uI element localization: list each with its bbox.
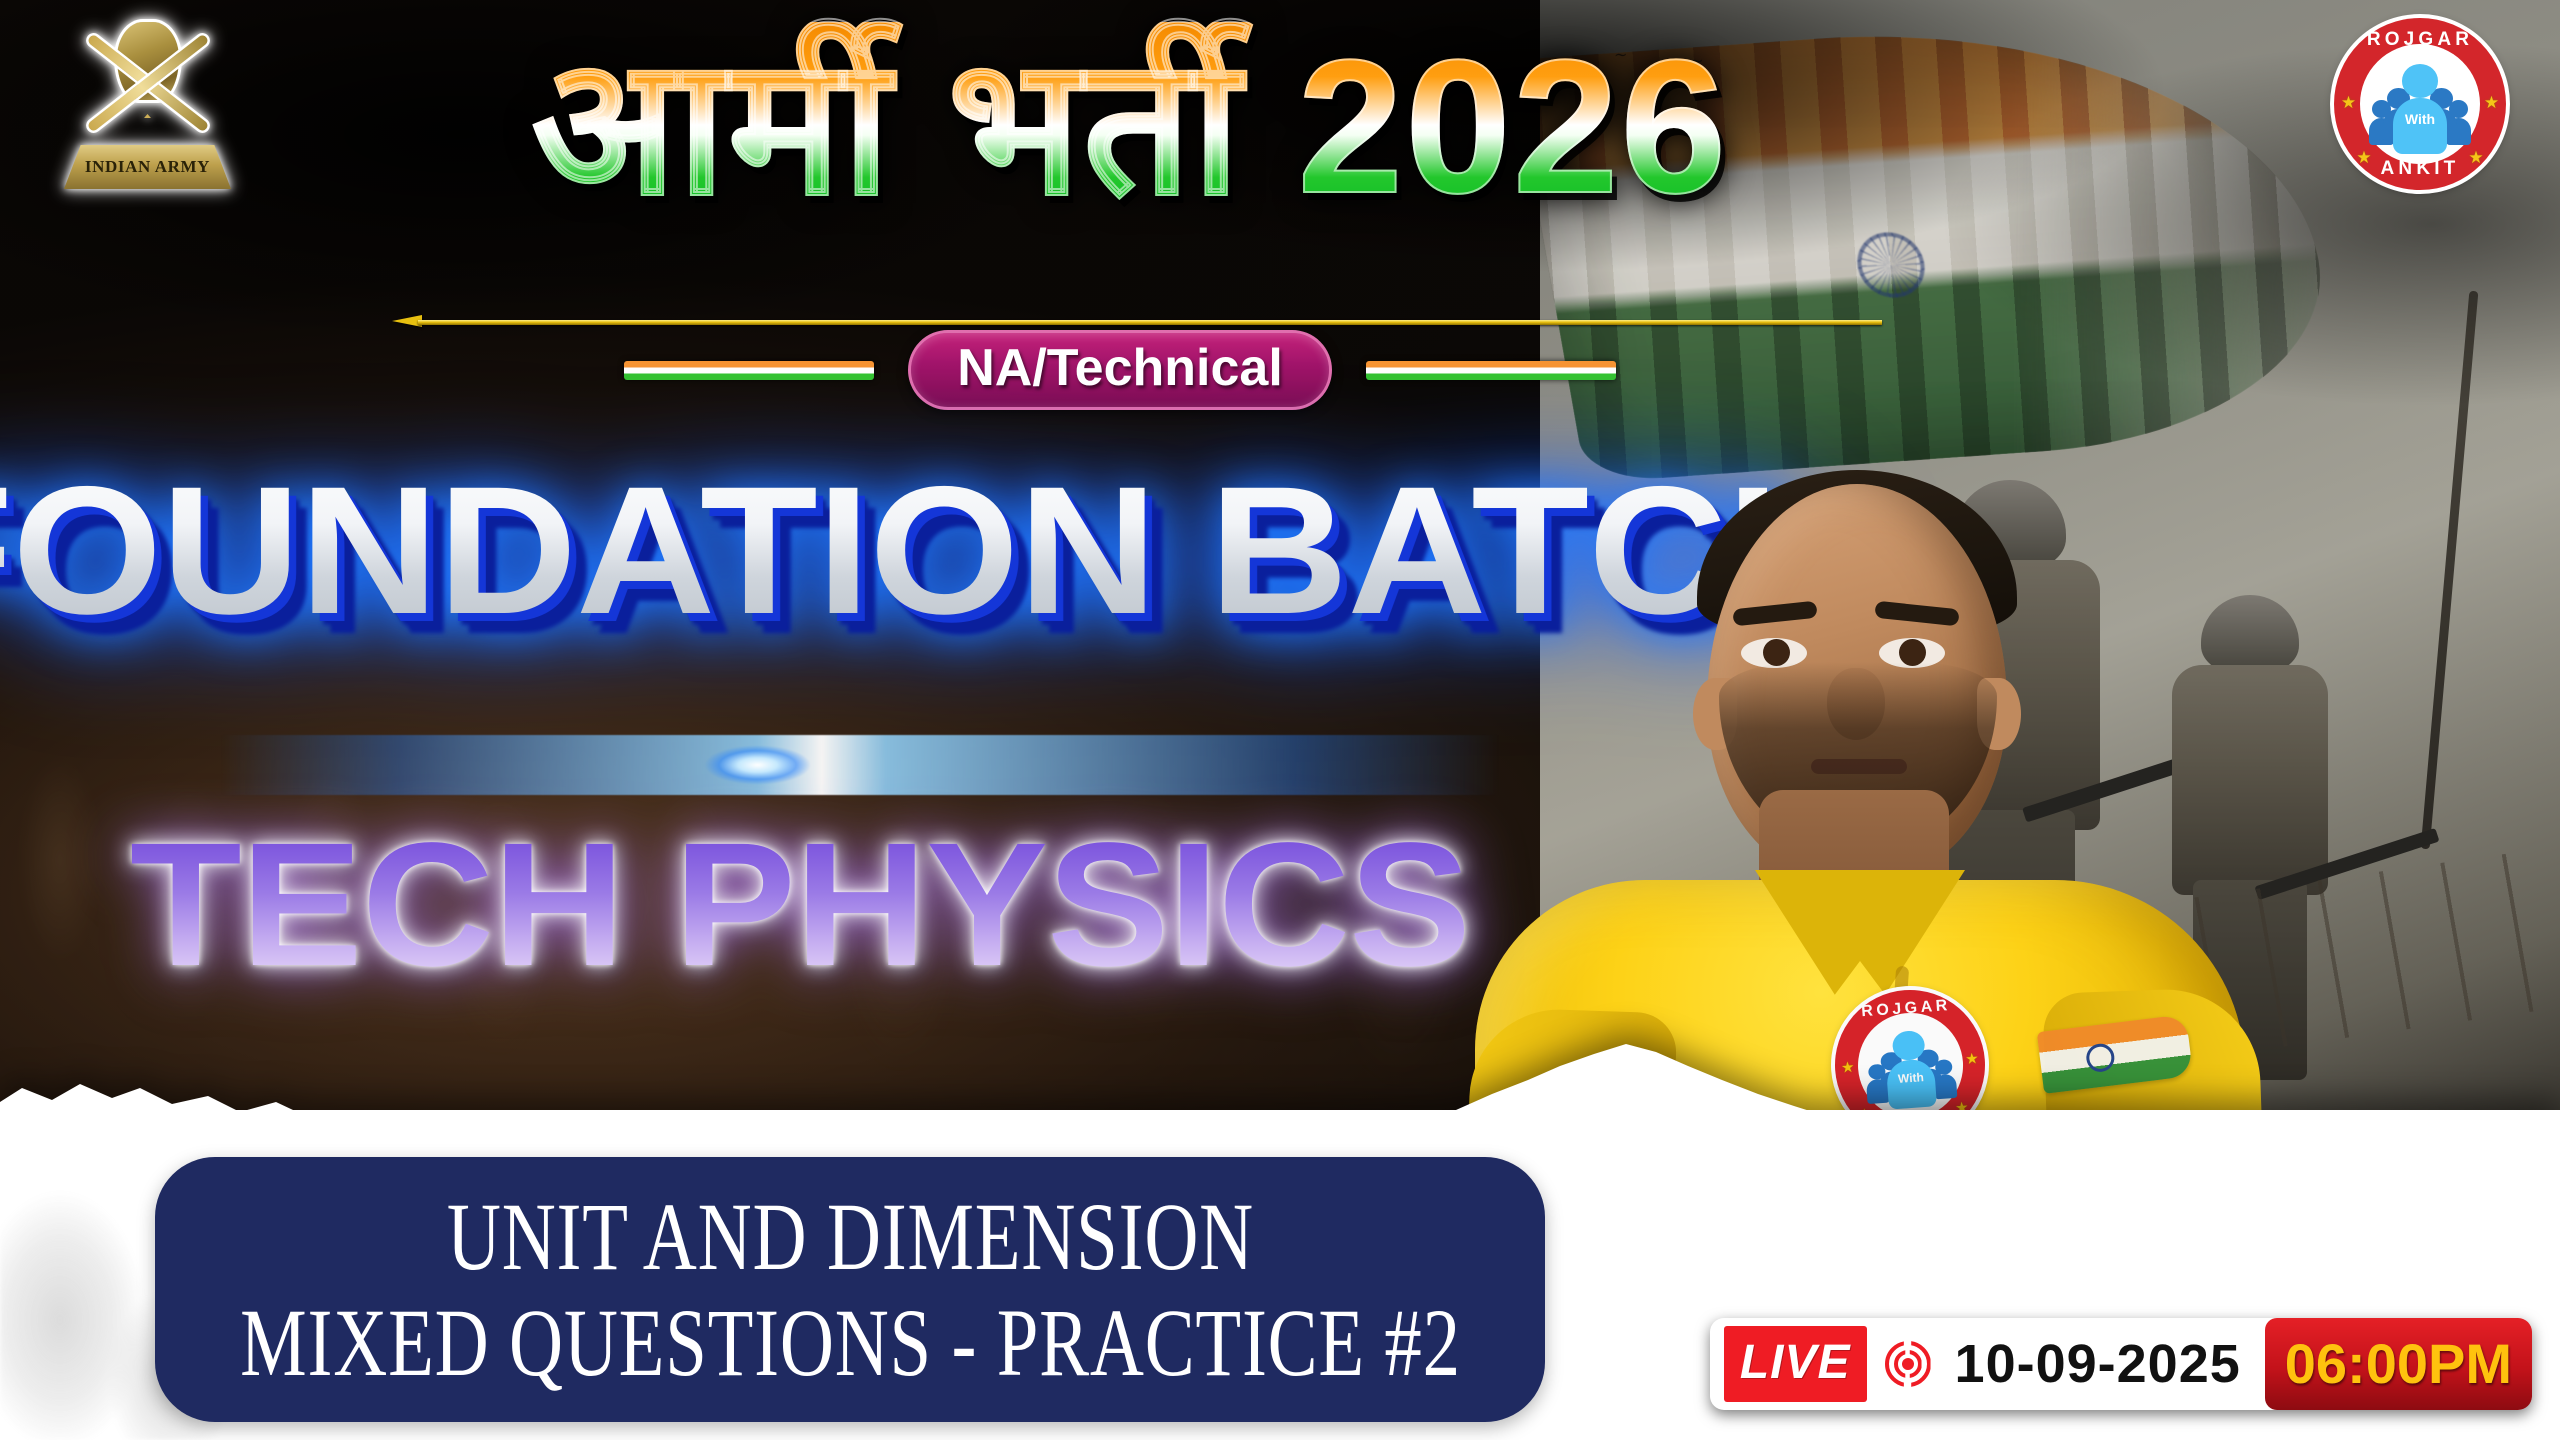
live-time: 06:00PM	[2265, 1318, 2532, 1410]
indian-army-label: INDIAN ARMY	[85, 157, 210, 177]
tricolor-bar-left	[624, 361, 874, 380]
live-badge: LIVE	[1724, 1326, 1867, 1402]
people-group-icon	[2372, 64, 2468, 153]
star-icon: ★	[2484, 94, 2499, 111]
emblem-plate: INDIAN ARMY	[60, 18, 235, 193]
indian-army-emblem: INDIAN ARMY	[60, 18, 235, 193]
topic-line-1: UNIT AND DIMENSION	[446, 1186, 1253, 1288]
status-badge: NA/Technical	[908, 330, 1332, 410]
emblem-scroll: INDIAN ARMY	[64, 145, 231, 189]
thumbnail-canvas: ∼ ∼ ∼ ∼ INDIAN ARMY ROJGAR ANKIT ★ ★ ★ ★	[0, 0, 2560, 1440]
broadcast-waves-icon	[1879, 1335, 1937, 1393]
logo-center-text: With	[2334, 111, 2506, 127]
page-title: आर्मी भर्ती 2026	[360, 22, 1900, 232]
live-date: 10-09-2025	[1949, 1337, 2255, 1391]
channel-logo-top[interactable]: ROJGAR ANKIT ★ ★ ★ ★ With	[2334, 18, 2506, 190]
course-name-secondary: TECH PHYSICS	[0, 800, 1632, 1010]
live-schedule-strip: LIVE 10-09-2025 06:00PM	[1710, 1318, 2532, 1410]
topic-banner: UNIT AND DIMENSION MIXED QUESTIONS - PRA…	[155, 1157, 1545, 1422]
topic-line-2: MIXED QUESTIONS - PRACTICE #2	[240, 1292, 1461, 1394]
star-icon: ★	[2468, 149, 2483, 166]
live-left-group: LIVE 10-09-2025	[1710, 1318, 2265, 1410]
star-icon: ★	[2341, 94, 2356, 111]
star-icon: ★	[2356, 149, 2371, 166]
